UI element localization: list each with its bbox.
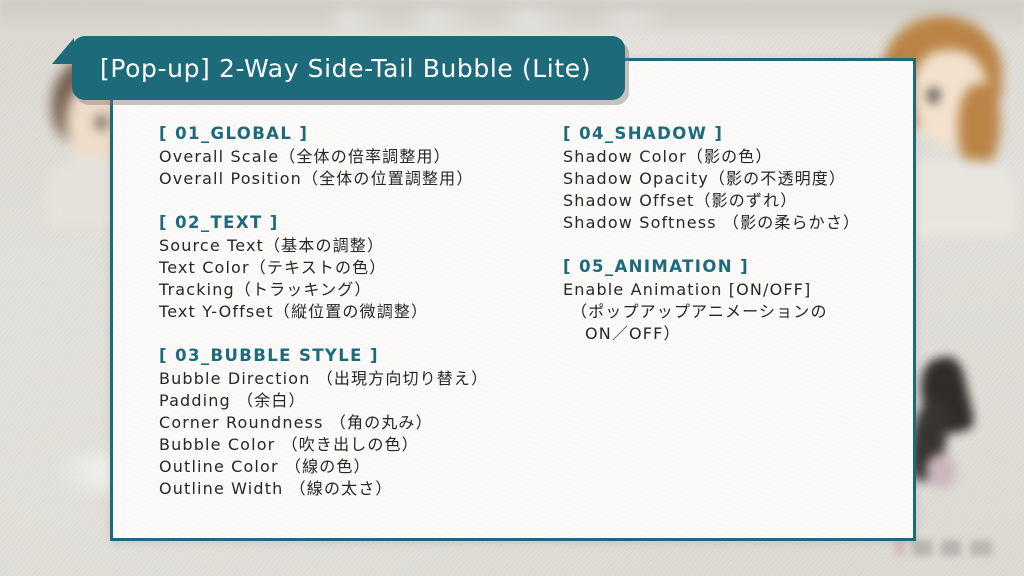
feature-column-left: [ 01_GLOBAL ]Overall Scale（全体の倍率調整用）Over… bbox=[159, 123, 559, 500]
feature-list-item: Overall Position（全体の位置調整用） bbox=[159, 168, 559, 190]
feature-section: [ 02_TEXT ]Source Text（基本の調整）Text Color（… bbox=[159, 212, 559, 323]
blurred-background-text-top bbox=[330, 8, 670, 30]
feature-list-item: Corner Roundness （角の丸み） bbox=[159, 412, 559, 434]
bubble-tail-icon bbox=[52, 38, 74, 64]
feature-section-heading: [ 01_GLOBAL ] bbox=[159, 123, 559, 145]
blurred-background-text-bottom-right bbox=[895, 540, 1005, 556]
feature-list-item: Text Color（テキストの色） bbox=[159, 257, 559, 279]
feature-list-item: ON／OFF） bbox=[563, 323, 913, 345]
feature-section: [ 01_GLOBAL ]Overall Scale（全体の倍率調整用）Over… bbox=[159, 123, 559, 190]
slide-canvas: [ 01_GLOBAL ]Overall Scale（全体の倍率調整用）Over… bbox=[0, 0, 1024, 576]
feature-list-item: Shadow Opacity（影の不透明度） bbox=[563, 168, 913, 190]
feature-section-heading: [ 04_SHADOW ] bbox=[563, 123, 913, 145]
character-left-eye bbox=[96, 116, 107, 129]
feature-list-item: Outline Color （線の色） bbox=[159, 456, 559, 478]
feature-list-item: Overall Scale（全体の倍率調整用） bbox=[159, 146, 559, 168]
feature-list-item: Tracking（トラッキング） bbox=[159, 279, 559, 301]
feature-section-heading: [ 03_BUBBLE STYLE ] bbox=[159, 345, 559, 367]
feature-list-item: Enable Animation [ON/OFF] bbox=[563, 279, 913, 301]
dark-shape-accent bbox=[926, 454, 956, 488]
feature-list-item: Padding （余白） bbox=[159, 390, 559, 412]
feature-section-heading: [ 05_ANIMATION ] bbox=[563, 256, 913, 278]
page-title: [Pop-up] 2-Way Side-Tail Bubble (Lite) bbox=[100, 36, 611, 100]
feature-list-item: Shadow Softness （影の柔らかさ） bbox=[563, 212, 913, 234]
character-right-eye bbox=[928, 88, 939, 103]
feature-list-item: Shadow Offset（影のずれ） bbox=[563, 190, 913, 212]
feature-column-right: [ 04_SHADOW ]Shadow Color（影の色）Shadow Opa… bbox=[563, 123, 913, 345]
blurred-dark-hair-shape bbox=[912, 358, 974, 498]
feature-section-heading: [ 02_TEXT ] bbox=[159, 212, 559, 234]
feature-section: [ 03_BUBBLE STYLE ]Bubble Direction （出現方… bbox=[159, 345, 559, 500]
feature-list-item: Bubble Color （吹き出しの色） bbox=[159, 434, 559, 456]
feature-list-item: Outline Width （線の太さ） bbox=[159, 478, 559, 500]
character-right-side-hair bbox=[958, 84, 1000, 170]
feature-list-item: （ポップアップアニメーションの bbox=[563, 301, 913, 323]
feature-list-item: Bubble Direction （出現方向切り替え） bbox=[159, 368, 559, 390]
feature-section: [ 05_ANIMATION ]Enable Animation [ON/OFF… bbox=[563, 256, 913, 345]
feature-list-card: [ 01_GLOBAL ]Overall Scale（全体の倍率調整用）Over… bbox=[110, 58, 916, 541]
feature-section: [ 04_SHADOW ]Shadow Color（影の色）Shadow Opa… bbox=[563, 123, 913, 234]
feature-list-item: Source Text（基本の調整） bbox=[159, 235, 559, 257]
feature-list-item: Shadow Color（影の色） bbox=[563, 146, 913, 168]
title-speech-bubble: [Pop-up] 2-Way Side-Tail Bubble (Lite) bbox=[72, 36, 625, 100]
feature-list-item: Text Y-Offset（縦位置の微調整） bbox=[159, 301, 559, 323]
